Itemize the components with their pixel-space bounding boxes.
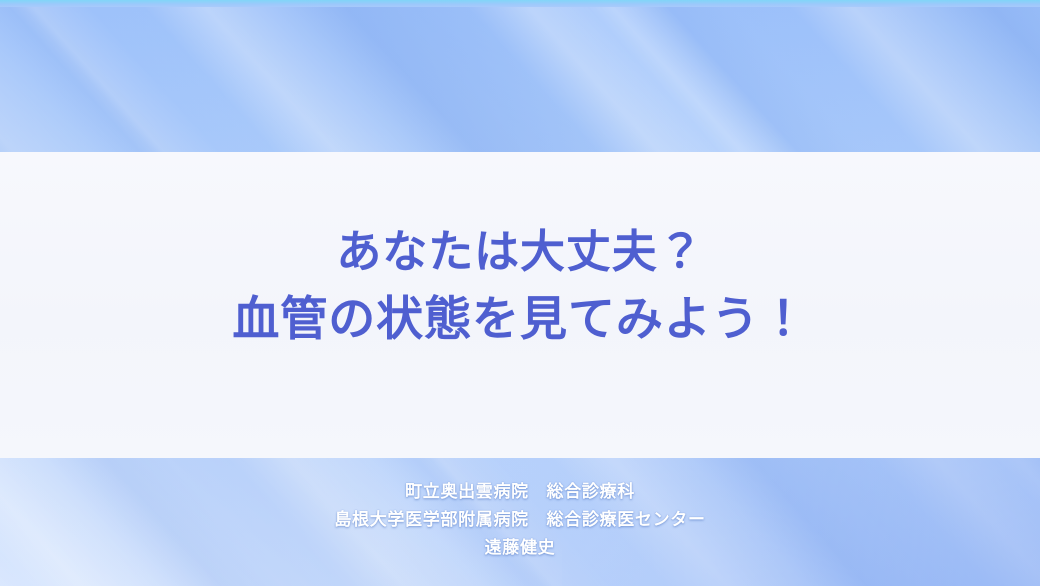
affiliation-block: 町立奥出雲病院 総合診療科 島根大学医学部附属病院 総合診療医センター 遠藤健史	[0, 481, 1040, 560]
affiliation-line-university: 島根大学医学部附属病院 総合診療医センター	[334, 509, 705, 532]
title-slide: あなたは大丈夫？ 血管の状態を見てみよう！ 町立奥出雲病院 総合診療科 島根大学…	[0, 0, 1040, 586]
affiliation-line-hospital: 町立奥出雲病院 総合診療科	[405, 481, 635, 504]
title-block: あなたは大丈夫？ 血管の状態を見てみよう！	[0, 152, 1040, 458]
slide-title-line-1: あなたは大丈夫？	[336, 226, 703, 278]
background-top-edge-accent	[0, 0, 1040, 7]
presenter-name: 遠藤健史	[485, 537, 556, 560]
slide-title-line-2: 血管の状態を見てみよう！	[232, 292, 807, 346]
